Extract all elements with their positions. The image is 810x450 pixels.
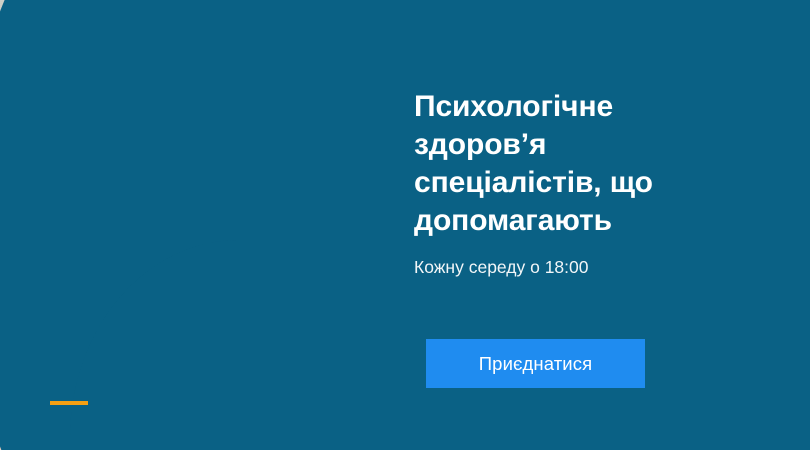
banner-content: Психологічне здоров’я спеціалістів, що д… [414,0,810,450]
page-title: Психологічне здоров’я спеціалістів, що д… [414,88,704,240]
promo-banner: Психологічне здоров’я спеціалістів, що д… [0,0,810,450]
orange-accent-rule [50,401,88,405]
schedule-text: Кожну середу о 18:00 [414,255,589,279]
join-button[interactable]: Приєднатися [426,339,645,388]
